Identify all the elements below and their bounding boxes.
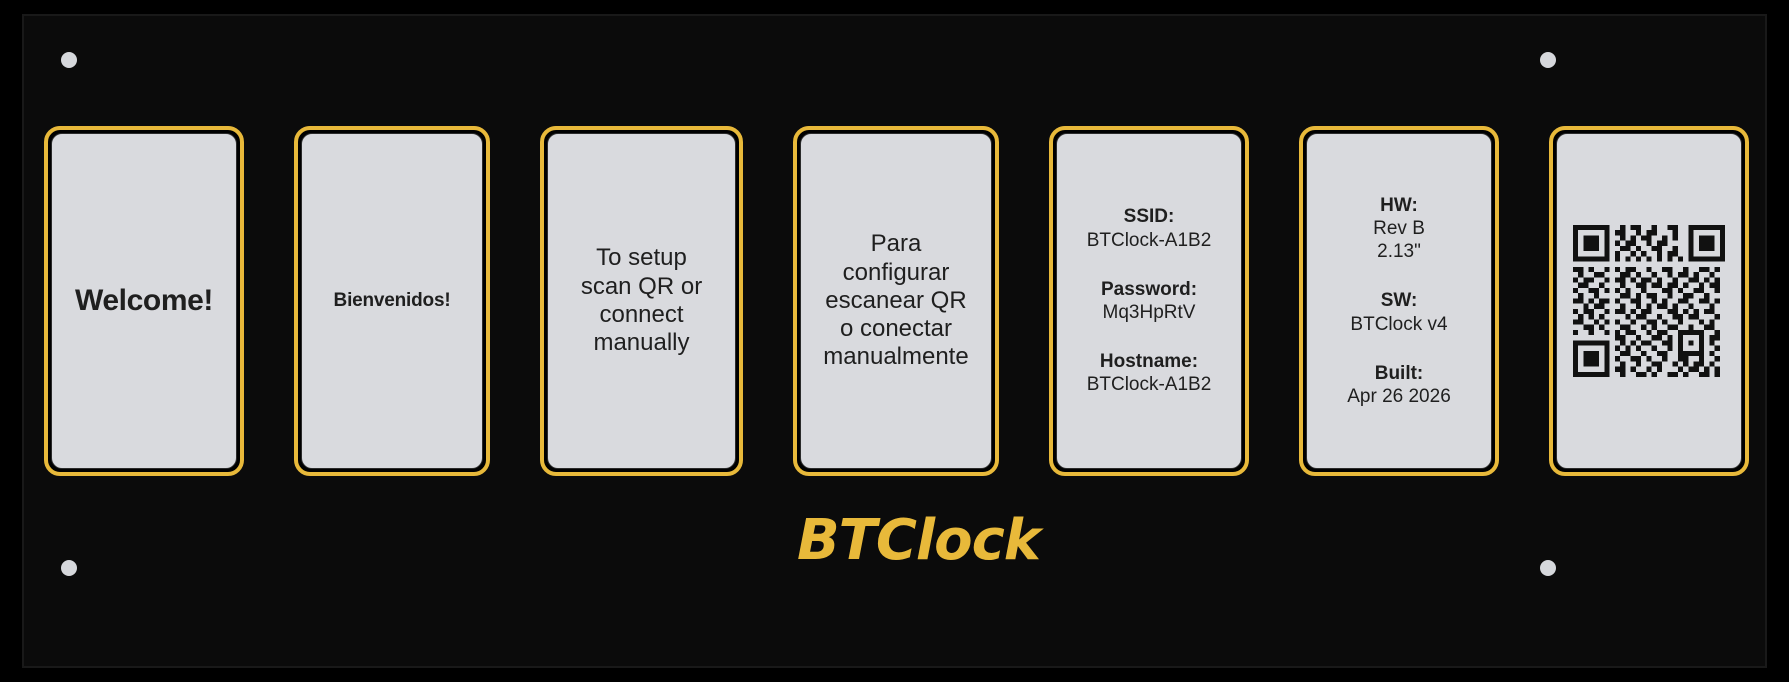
password-value: Mq3HpRtV xyxy=(1101,301,1197,324)
qr-code-icon xyxy=(1573,225,1725,377)
bienvenidos-text: Bienvenidos! xyxy=(334,290,451,312)
display-panel-row: Welcome! Bienvenidos! To setup scan QR o… xyxy=(44,126,1749,484)
mounting-screw-top-left xyxy=(61,52,77,68)
screen-surface: HW: Rev B 2.13" SW: BTClock v4 Built: Ap… xyxy=(1306,133,1492,469)
instruction-line: manually xyxy=(581,329,702,357)
built-label: Built: xyxy=(1347,362,1451,385)
display-panel-instructions-en[interactable]: To setup scan QR or connect manually xyxy=(540,126,743,476)
ssid-label: SSID: xyxy=(1087,205,1212,228)
display-panel-instructions-es[interactable]: Para configurar escanear QR o conectar m… xyxy=(793,126,999,476)
screen-surface: Bienvenidos! xyxy=(301,133,483,469)
screen-surface: To setup scan QR or connect manually xyxy=(547,133,736,469)
hardware-screen-size: 2.13" xyxy=(1373,240,1425,263)
hostname-value: BTClock-A1B2 xyxy=(1087,373,1212,396)
display-panel-version-info[interactable]: HW: Rev B 2.13" SW: BTClock v4 Built: Ap… xyxy=(1299,126,1499,476)
screen-surface: Welcome! xyxy=(51,133,237,469)
hardware-block: HW: Rev B 2.13" xyxy=(1373,194,1425,264)
hardware-label: HW: xyxy=(1373,194,1425,217)
built-block: Built: Apr 26 2026 xyxy=(1347,362,1451,408)
display-panel-welcome-es[interactable]: Bienvenidos! xyxy=(294,126,490,476)
built-date: Apr 26 2026 xyxy=(1347,385,1451,408)
ssid-block: SSID: BTClock-A1B2 xyxy=(1087,205,1212,251)
screen-surface xyxy=(1556,133,1742,469)
instruction-line: manualmente xyxy=(823,343,968,371)
instructions-text-es: Para configurar escanear QR o conectar m… xyxy=(817,230,974,372)
instruction-line: scan QR or xyxy=(581,273,702,301)
welcome-text: Welcome! xyxy=(75,284,213,318)
password-block: Password: Mq3HpRtV xyxy=(1101,278,1197,324)
instruction-line: o conectar xyxy=(823,315,968,343)
device-board: Welcome! Bienvenidos! To setup scan QR o… xyxy=(22,14,1767,668)
software-label: SW: xyxy=(1350,289,1447,312)
instruction-line: connect xyxy=(581,301,702,329)
software-block: SW: BTClock v4 xyxy=(1350,289,1447,335)
hostname-label: Hostname: xyxy=(1087,350,1212,373)
instruction-line: configurar xyxy=(823,259,968,287)
ssid-value: BTClock-A1B2 xyxy=(1087,229,1212,252)
display-panel-welcome-en[interactable]: Welcome! xyxy=(44,126,244,476)
software-version: BTClock v4 xyxy=(1350,313,1447,336)
instructions-text-en: To setup scan QR or connect manually xyxy=(575,244,708,357)
display-panel-network-info[interactable]: SSID: BTClock-A1B2 Password: Mq3HpRtV Ho… xyxy=(1049,126,1249,476)
btclock-wordmark: BTClock xyxy=(24,508,1789,573)
btclock-device: Welcome! Bienvenidos! To setup scan QR o… xyxy=(0,0,1789,682)
hardware-revision: Rev B xyxy=(1373,217,1425,240)
mounting-screw-top-right xyxy=(1540,52,1556,68)
instruction-line: To setup xyxy=(581,244,702,272)
screen-surface: Para configurar escanear QR o conectar m… xyxy=(800,133,992,469)
screen-surface: SSID: BTClock-A1B2 Password: Mq3HpRtV Ho… xyxy=(1056,133,1242,469)
instruction-line: escanear QR xyxy=(823,287,968,315)
instruction-line: Para xyxy=(823,230,968,258)
display-panel-qr-code[interactable] xyxy=(1549,126,1749,476)
password-label: Password: xyxy=(1101,278,1197,301)
hostname-block: Hostname: BTClock-A1B2 xyxy=(1087,350,1212,396)
